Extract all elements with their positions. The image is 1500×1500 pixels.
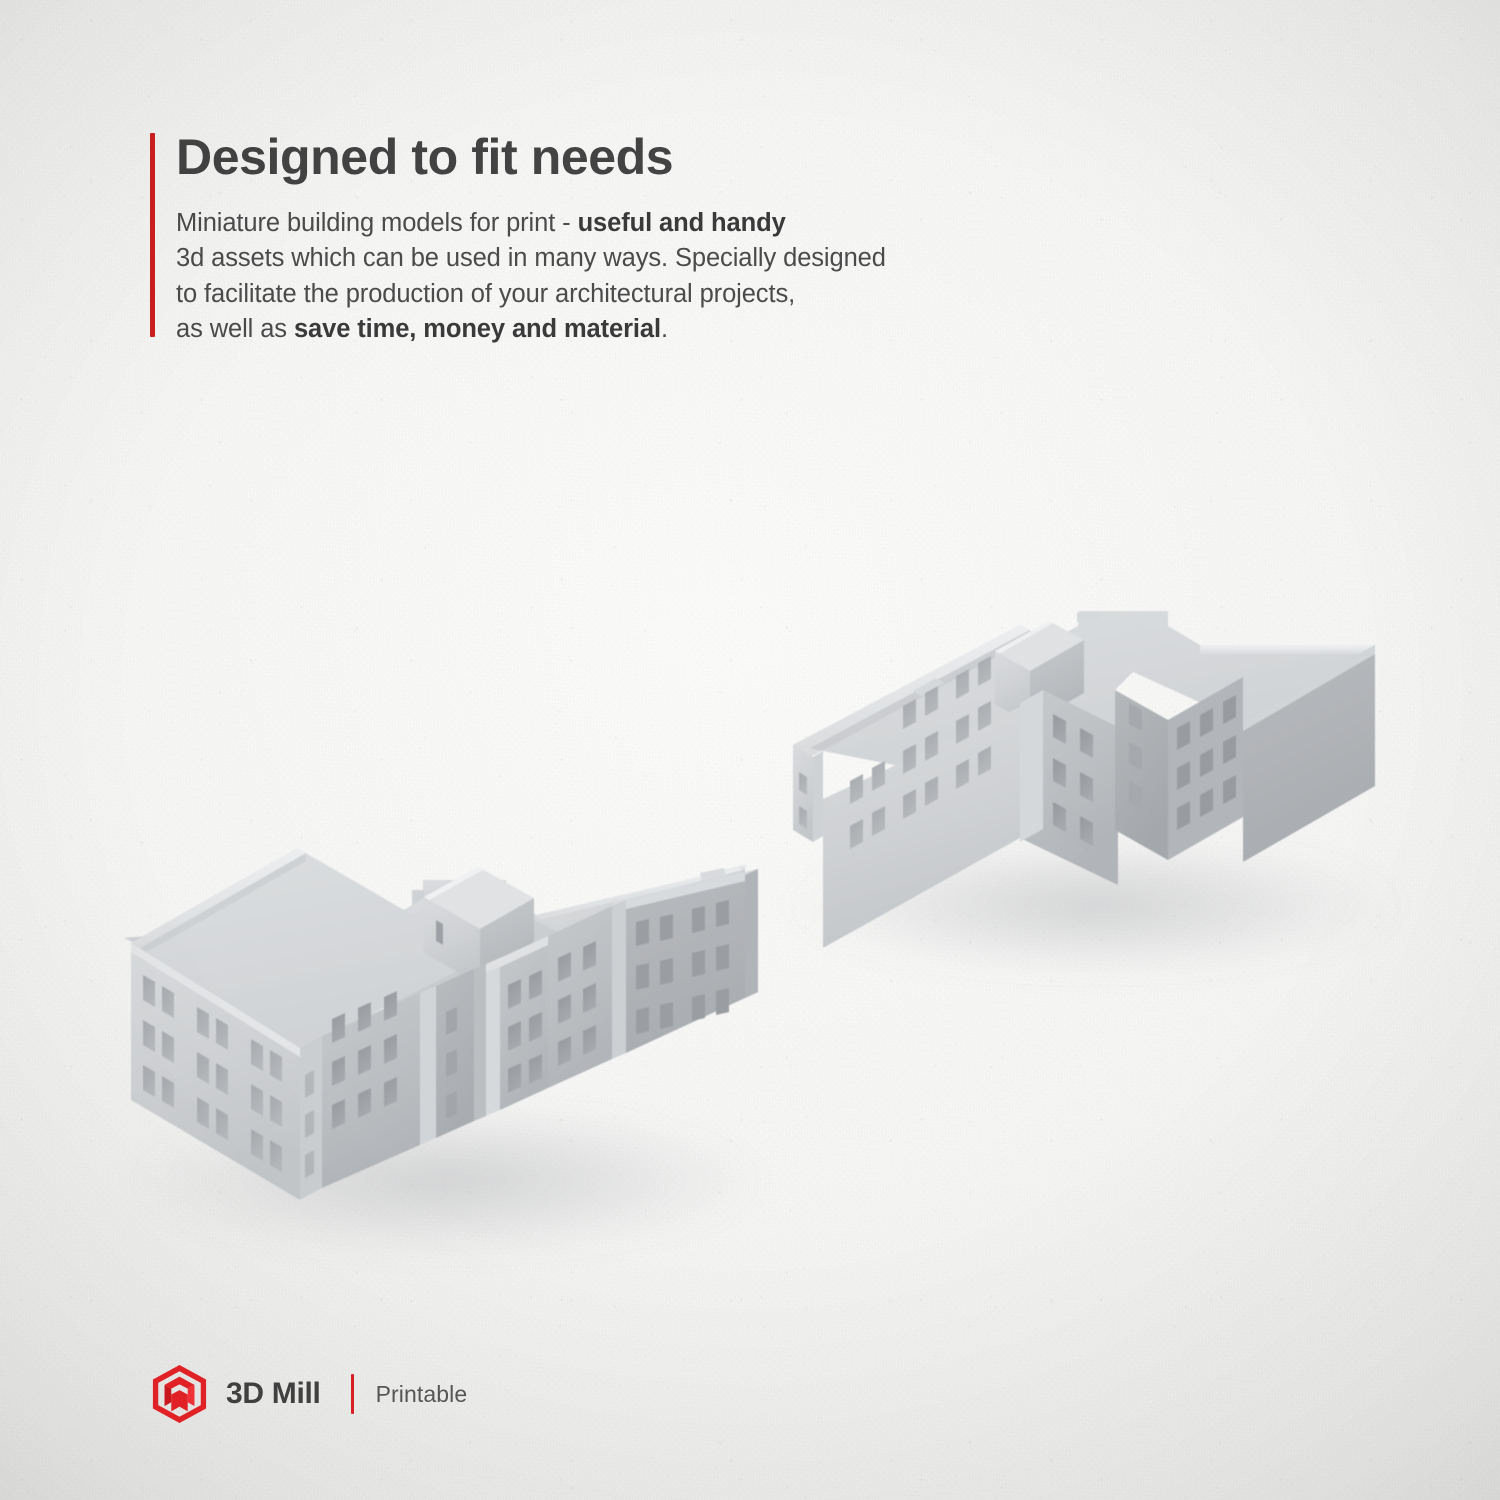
page-title: Designed to fit needs: [176, 131, 1150, 184]
subtitle-line2: 3d assets which can be used in many ways…: [176, 244, 886, 272]
brand-bar: 3D Mill Printable: [152, 1363, 467, 1425]
brand-tagline: Printable: [376, 1383, 468, 1406]
subtitle-line4-plain: as well as: [176, 315, 294, 343]
header-text-group: Designed to fit needs Miniature building…: [176, 131, 1150, 347]
header-block: Designed to fit needs Miniature building…: [150, 131, 1150, 347]
brand-divider: [351, 1374, 354, 1414]
brand-name: 3D Mill: [226, 1379, 321, 1409]
cube-m-logo-icon: [152, 1365, 207, 1423]
subtitle-line3: to facilitate the production of your arc…: [176, 280, 795, 308]
poster-canvas: Designed to fit needs Miniature building…: [0, 0, 1500, 1500]
page-subtitle: Miniature building models for print - us…: [176, 206, 1150, 347]
subtitle-line1-plain: Miniature building models for print -: [176, 209, 578, 237]
subtitle-line1-bold: useful and handy: [578, 209, 786, 237]
subtitle-line4-period: .: [661, 315, 668, 343]
subtitle-line4-bold: save time, money and material: [294, 315, 661, 343]
accent-bar: [150, 133, 155, 337]
